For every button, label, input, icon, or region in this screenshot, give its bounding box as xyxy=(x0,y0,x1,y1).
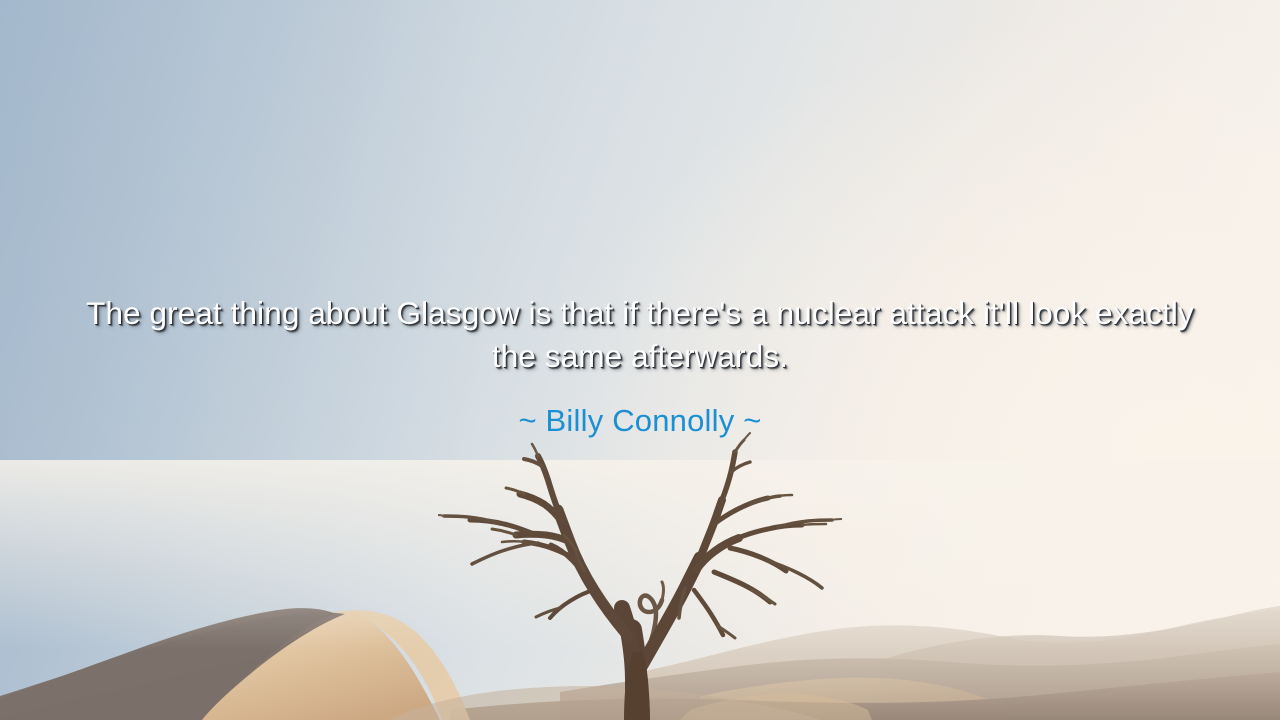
quote-text: The great thing about Glasgow is that if… xyxy=(0,292,1280,378)
dunes-layer xyxy=(0,460,1280,720)
dune-haze-overlay xyxy=(0,460,1280,650)
author-attribution: ~ Billy Connolly ~ xyxy=(0,402,1280,440)
quote-image: The great thing about Glasgow is that if… xyxy=(0,0,1280,720)
quote-block: The great thing about Glasgow is that if… xyxy=(0,292,1280,440)
